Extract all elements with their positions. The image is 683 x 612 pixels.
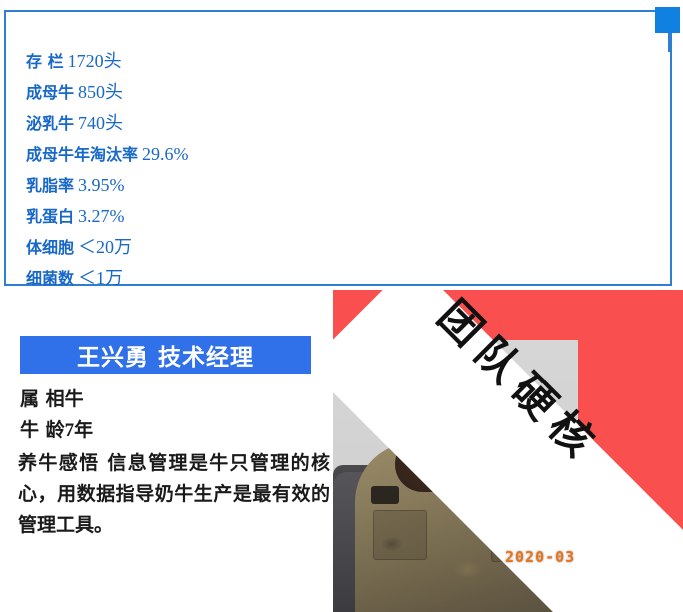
person-sleeve-patch	[371, 486, 399, 504]
stat-label: 成母牛	[26, 83, 74, 102]
stat-value: 3.95%	[78, 175, 125, 195]
profile-field-label: 属 相	[20, 388, 65, 410]
stat-label: 存 栏	[26, 52, 64, 71]
stat-label: 乳脂率	[26, 176, 74, 195]
profile-field-label: 牛 龄	[20, 419, 65, 441]
stat-value: 740头	[78, 113, 123, 133]
corner-accent-square	[655, 7, 680, 33]
stat-value: ＜1万	[78, 268, 123, 288]
profile-fields: 属 相牛 牛 龄7年	[20, 384, 325, 446]
stat-row: 乳蛋白3.27%	[26, 201, 526, 232]
profile-row: 牛 龄7年	[20, 415, 325, 446]
corner-accent-line	[668, 30, 670, 52]
stat-value: 29.6%	[142, 144, 189, 164]
stat-value: 3.27%	[78, 206, 125, 226]
profile-block: 王兴勇 技术经理 属 相牛 牛 龄7年 养牛感悟 信息管理是牛只管理的核心，用数…	[0, 296, 333, 612]
photo-timestamp: 2020-03	[505, 548, 575, 566]
stat-row: 成母牛850头	[26, 77, 526, 108]
stat-value: ＜20万	[78, 237, 132, 257]
profile-name-title: 王兴勇 技术经理	[77, 338, 254, 372]
person-pocket-left	[373, 510, 427, 560]
stat-value: 1720头	[68, 51, 122, 71]
stats-panel: 存 栏1720头 成母牛850头 泌乳牛740头 成母牛年淘汰率29.6% 乳脂…	[4, 10, 672, 286]
profile-row: 属 相牛	[20, 384, 325, 415]
stat-label: 泌乳牛	[26, 114, 74, 133]
stat-label: 细菌数	[26, 269, 74, 288]
stat-label: 乳蛋白	[26, 207, 74, 226]
profile-field-value: 牛	[65, 389, 84, 410]
stat-row: 乳脂率3.95%	[26, 170, 526, 201]
stat-label: 成母牛年淘汰率	[26, 145, 138, 164]
profile-photo: 团队硬核 2020-03	[333, 290, 683, 612]
stats-list: 存 栏1720头 成母牛850头 泌乳牛740头 成母牛年淘汰率29.6% 乳脂…	[26, 46, 526, 294]
stat-row: 体细胞＜20万	[26, 232, 526, 263]
stat-row: 存 栏1720头	[26, 46, 526, 77]
profile-name-banner: 王兴勇 技术经理	[20, 336, 311, 374]
stat-row: 泌乳牛740头	[26, 108, 526, 139]
stat-label: 体细胞	[26, 238, 74, 257]
stat-value: 850头	[78, 82, 123, 102]
stat-row: 成母牛年淘汰率29.6%	[26, 139, 526, 170]
profile-quote: 养牛感悟 信息管理是牛只管理的核心，用数据指导奶牛生产是最有效的管理工具。	[18, 448, 330, 541]
profile-field-value: 7年	[65, 420, 94, 441]
